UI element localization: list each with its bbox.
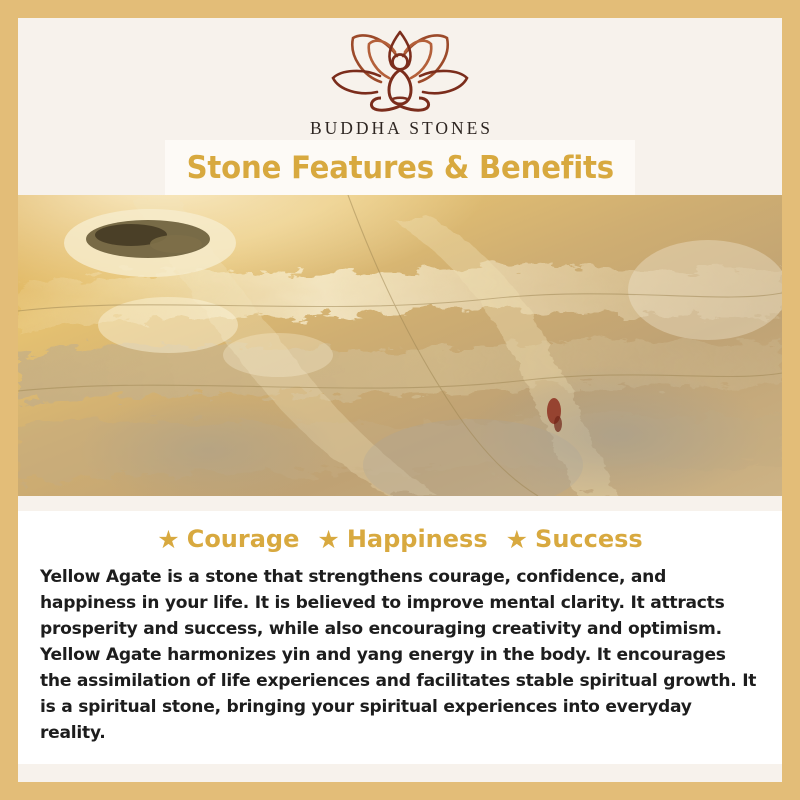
page-title: Stone Features & Benefits <box>186 150 613 186</box>
benefit-item-courage: ★ Courage <box>157 525 299 553</box>
lotus-meditation-icon <box>325 26 475 112</box>
benefit-label: Success <box>535 525 643 553</box>
star-icon: ★ <box>317 527 339 552</box>
description-panel: ★ Courage ★ Happiness ★ Success Yellow A… <box>18 511 782 782</box>
star-icon: ★ <box>506 527 528 552</box>
yellow-agate-texture <box>18 195 782 496</box>
footer-strip <box>18 764 782 782</box>
poster-card: BUDDHA STONES Stone Features & Benefits <box>18 18 782 782</box>
brand-logo: BUDDHA STONES <box>18 26 782 139</box>
star-icon: ★ <box>157 527 179 552</box>
benefit-item-success: ★ Success <box>506 525 643 553</box>
description-text: Yellow Agate is a stone that strengthens… <box>40 565 760 747</box>
brand-name: BUDDHA STONES <box>307 118 493 139</box>
benefit-label: Happiness <box>347 525 488 553</box>
frame-bottom-band <box>0 782 800 800</box>
benefits-row: ★ Courage ★ Happiness ★ Success <box>18 525 782 553</box>
stone-photo: Yellow Agate <box>18 195 782 496</box>
poster-root: BUDDHA STONES Stone Features & Benefits <box>0 0 800 800</box>
benefit-label: Courage <box>187 525 300 553</box>
frame-top-band <box>0 0 800 18</box>
title-band: Stone Features & Benefits <box>165 140 635 195</box>
benefit-item-happiness: ★ Happiness <box>317 525 487 553</box>
